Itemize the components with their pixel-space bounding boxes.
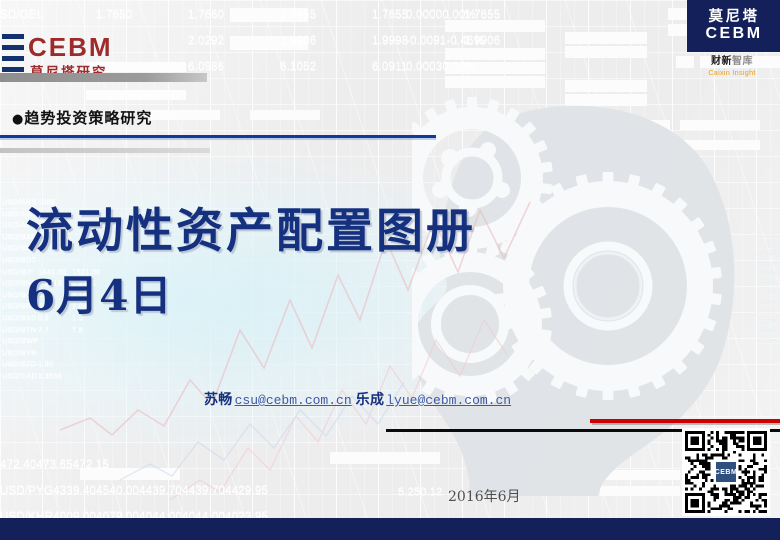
partner-chinese-bold: 财新 [711,56,732,67]
subtitle-gray-divider [0,148,210,153]
bullet-icon: ● [12,112,24,127]
partner-english: Caixin Insight [688,68,776,78]
background-right-percent: -0.22%0.72%-0.16%0.00%0.00%0.00%0%0.06%-… [756,232,778,346]
partner-chinese: 财新智库 [688,56,776,68]
header-gray-bar [0,73,207,82]
author-2-email[interactable]: lyue@cebm.com.cn [386,393,511,408]
partner-chinese-gray: 智库 [732,56,753,67]
red-accent-rule-shadow [592,423,780,425]
background-top-percent-column: 0.00000.00%-0.0091-0.46%0.00030.00% [406,2,484,80]
qr-center-logo: CEBM [714,460,738,484]
page-subtitle-date: 6月4日 [26,262,172,323]
author-2-name: 乐成 [356,392,385,408]
logo-latin-text: CEBM [28,32,113,62]
background-bottom-date-prefix: 5.250.12 [398,486,442,498]
publish-date: 2016年6月 [448,486,521,506]
page-title: 流动性资产配置图册 [26,192,476,261]
series-subtitle: ●趋势投资策略研究 [12,107,152,128]
brand-badge-latin: CEBM [688,25,780,43]
footer-bar [0,518,780,540]
author-1-name: 苏畅 [204,392,233,408]
partner-badge[interactable]: 财新智库 Caixin Insight [688,56,776,82]
slide-root: SD/GEL1.76501.76601.76551.76551.76552.02… [0,0,780,540]
qr-code[interactable]: CEBM [682,428,770,516]
subtitle-divider-shadow [0,138,436,140]
authors-line: 苏畅csu@cebm.com.cn乐成lyue@cebm.com.cn [204,389,515,409]
author-1-email[interactable]: csu@cebm.com.cn [235,393,352,408]
series-subtitle-text: 趋势投资策略研究 [24,109,152,127]
brand-badge-chinese: 莫尼塔 [688,5,780,26]
brand-badge[interactable]: 莫尼塔 CEBM [688,0,780,52]
